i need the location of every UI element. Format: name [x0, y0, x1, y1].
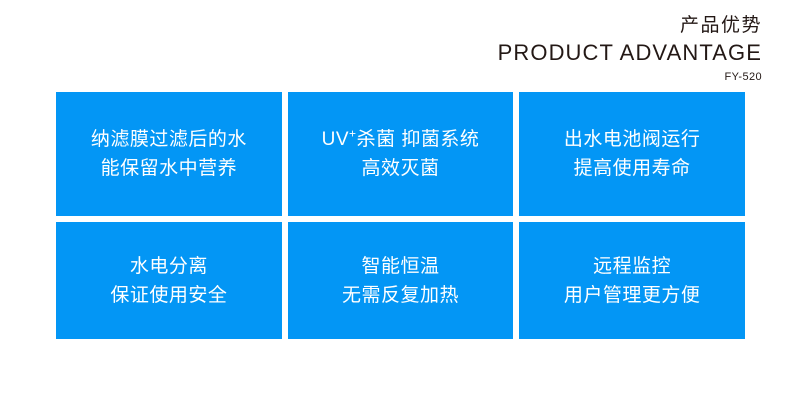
page-header: 产品优势 PRODUCT ADVANTAGE FY-520 [498, 16, 762, 83]
product-advantage-page: 产品优势 PRODUCT ADVANTAGE FY-520 纳滤膜过滤后的水 能… [0, 0, 800, 404]
advantage-card-grid: 纳滤膜过滤后的水 能保留水中营养 UV+杀菌 抑菌系统高效灭菌 出水电池阀运行 … [56, 92, 745, 345]
page-title-chinese: 产品优势 [498, 16, 762, 35]
advantage-card-smart-thermostat: 智能恒温 无需反复加热 [288, 222, 514, 339]
plus-superscript: + [349, 127, 357, 141]
advantage-card-text: 远程监控 用户管理更方便 [564, 252, 701, 310]
advantage-card-text: 水电分离 保证使用安全 [110, 252, 227, 310]
uv-line2: 高效灭菌 [361, 158, 439, 179]
advantage-card-nanofiltration-membrane: 纳滤膜过滤后的水 能保留水中营养 [56, 92, 282, 216]
uv-label: UV [322, 129, 349, 150]
advantage-card-text: 纳滤膜过滤后的水 能保留水中营养 [91, 125, 247, 183]
advantage-card-remote-monitoring: 远程监控 用户管理更方便 [519, 222, 745, 339]
advantage-card-water-electricity-separation: 水电分离 保证使用安全 [56, 222, 282, 339]
advantage-card-text: UV+杀菌 抑菌系统高效灭菌 [322, 125, 480, 183]
advantage-card-outlet-battery-valve: 出水电池阀运行 提高使用寿命 [519, 92, 745, 216]
advantage-card-text: 出水电池阀运行 提高使用寿命 [564, 125, 701, 183]
advantage-card-text: 智能恒温 无需反复加热 [342, 252, 459, 310]
advantage-card-uv-sterilization: UV+杀菌 抑菌系统高效灭菌 [288, 92, 514, 216]
uv-line1-suffix: 杀菌 抑菌系统 [357, 129, 480, 150]
page-title-english: PRODUCT ADVANTAGE [498, 42, 762, 64]
product-model-number: FY-520 [498, 72, 762, 83]
